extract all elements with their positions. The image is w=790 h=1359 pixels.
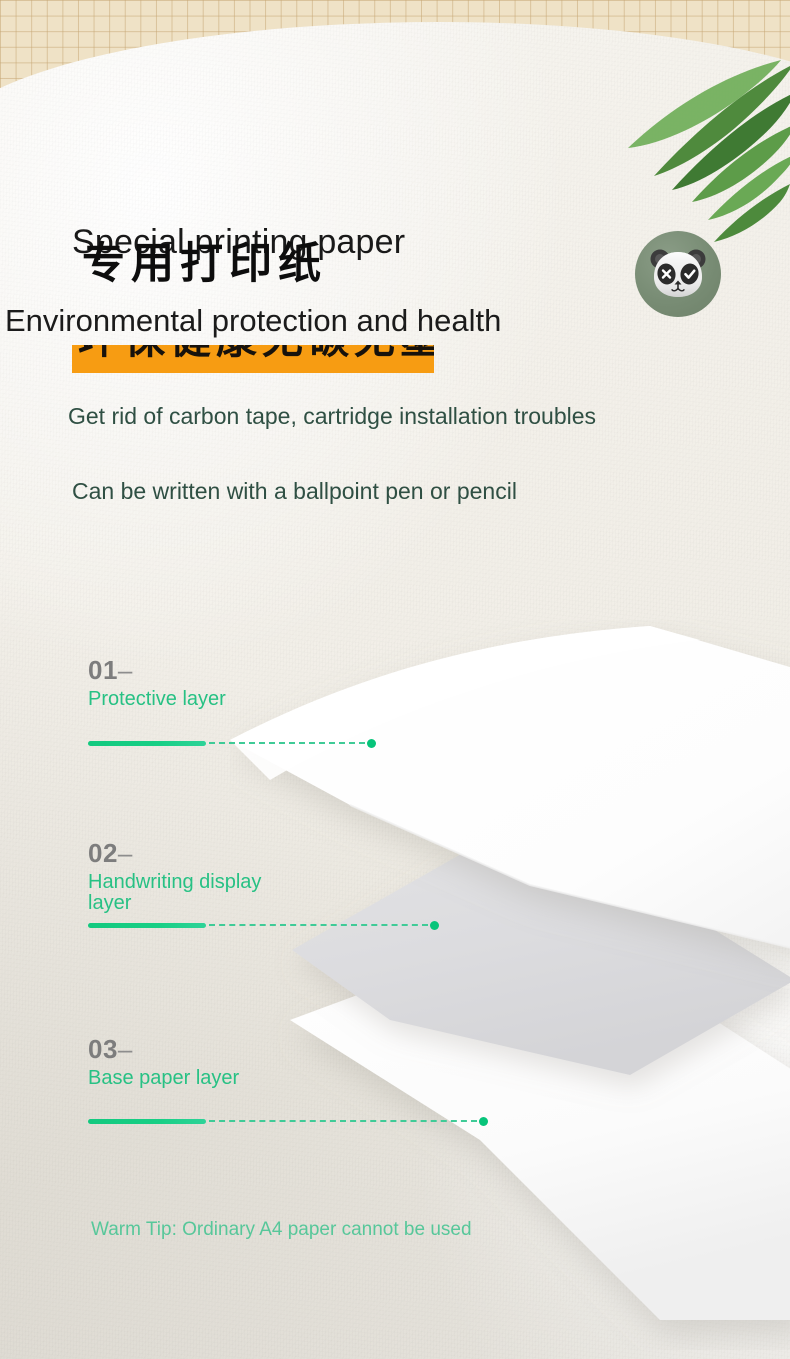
layer-callout-1: 01– Protective layer	[88, 655, 226, 710]
layer-callout-2: 02– Handwriting display layer	[88, 838, 303, 914]
layer-label-3: Base paper layer	[88, 1068, 239, 1089]
headline-area: Special printing paper 专用打印纸 Environment…	[0, 222, 790, 382]
subtitle-english: Environmental protection and health	[5, 302, 501, 340]
layer-number-value-2: 02	[88, 838, 118, 868]
layer-number-dash-2: –	[118, 838, 133, 868]
title-chinese: 专用打印纸	[82, 238, 327, 290]
layer-rule-3	[88, 1118, 488, 1124]
product-promo-page: Special printing paper 专用打印纸 Environment…	[0, 0, 790, 1359]
rule-dashed-3	[209, 1120, 477, 1122]
rule-dashed-1	[209, 742, 365, 744]
rule-dot-2	[430, 921, 439, 930]
layer-number-value-3: 03	[88, 1034, 118, 1064]
layer-number-3: 03–	[88, 1034, 239, 1064]
banner-chinese-text: 环保健康无碳无墨	[78, 345, 434, 363]
rule-dot-1	[367, 739, 376, 748]
layer-rule-2	[88, 922, 439, 928]
orange-highlight-banner: 环保健康无碳无墨	[72, 345, 434, 373]
layer-number-dash-3: –	[118, 1034, 133, 1064]
feature-text-2: Can be written with a ballpoint pen or p…	[72, 476, 672, 506]
layer-number-2: 02–	[88, 838, 303, 868]
layer-callout-3: 03– Base paper layer	[88, 1034, 239, 1089]
rule-dot-3	[479, 1117, 488, 1126]
layer-number-value-1: 01	[88, 655, 118, 685]
warm-tip-text: Warm Tip: Ordinary A4 paper cannot be us…	[91, 1218, 472, 1242]
rule-solid-3	[88, 1119, 206, 1124]
layer-number-dash-1: –	[118, 655, 133, 685]
feature-text-1: Get rid of carbon tape, cartridge instal…	[68, 401, 628, 431]
layer-rule-1	[88, 740, 376, 746]
layer-label-1: Protective layer	[88, 689, 226, 710]
rule-solid-2	[88, 923, 206, 928]
layer-number-1: 01–	[88, 655, 226, 685]
rule-dashed-2	[209, 924, 428, 926]
rule-solid-1	[88, 741, 206, 746]
layer-label-2: Handwriting display layer	[88, 872, 303, 914]
